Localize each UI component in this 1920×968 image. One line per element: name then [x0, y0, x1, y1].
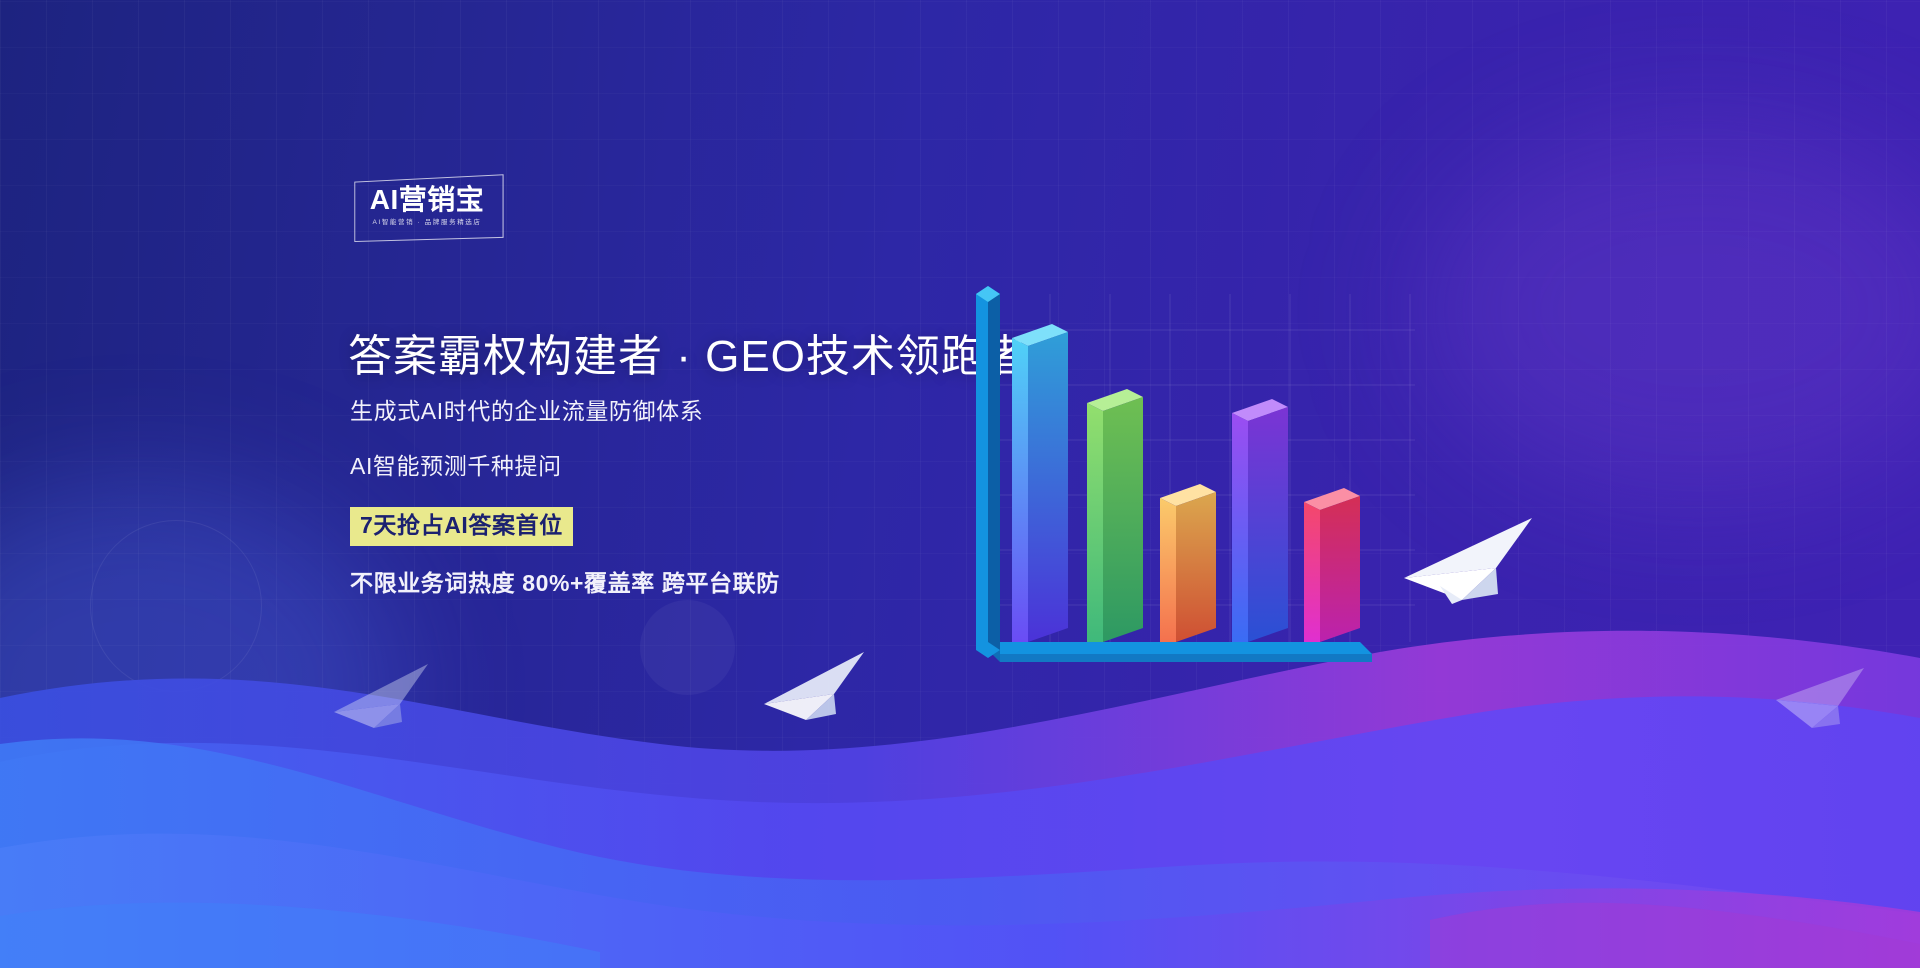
hero-subline-1: 生成式AI时代的企业流量防御体系 — [350, 398, 990, 426]
chart-axis-y — [976, 286, 1000, 658]
chart-bar-4 — [1232, 399, 1288, 642]
bar-chart-illustration — [960, 280, 1430, 680]
background-glow-right — [1420, 120, 1920, 500]
chart-bar-5 — [1304, 488, 1360, 642]
hero-subline-2: AI智能预测千种提问 — [350, 453, 990, 481]
hero-copy-list: 生成式AI时代的企业流量防御体系 AI智能预测千种提问 7天抢占AI答案首位 不… — [350, 398, 990, 597]
brand-logo[interactable]: AI营销宝 AI智能营销 · 品牌服务精选店 — [352, 178, 502, 240]
logo-tagline: AI智能营销 · 品牌服务精选店 — [352, 220, 502, 227]
logo-wordmark: AI营销宝 — [352, 186, 502, 214]
hero-banner: AI营销宝 AI智能营销 · 品牌服务精选店 答案霸权构建者 · GEO技术领跑… — [0, 0, 1920, 968]
hero-highlight-badge: 7天抢占AI答案首位 — [350, 507, 573, 546]
chart-bar-1 — [1012, 324, 1068, 642]
page-title: 答案霸权构建者 · GEO技术领跑者 — [348, 320, 1031, 384]
hero-feature-line: 不限业务词热度 80%+覆盖率 跨平台联防 — [350, 570, 990, 598]
chart-bar-3 — [1160, 484, 1216, 642]
chart-bar-2 — [1087, 389, 1143, 642]
